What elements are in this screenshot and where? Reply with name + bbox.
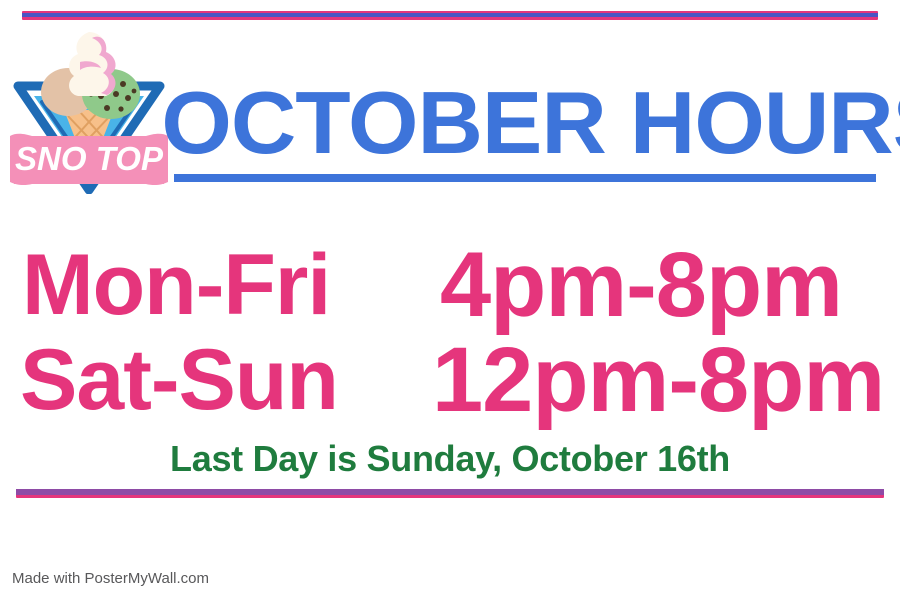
hours-row-time: 4pm-8pm — [440, 238, 842, 333]
last-day-note: Last Day is Sunday, October 16th — [0, 437, 900, 481]
hours-list: Mon-Fri 4pm-8pm Sat-Sun 12pm-8pm — [0, 238, 900, 428]
top-divider-inner-stripe — [22, 13, 878, 17]
bottom-divider-inner-stripe — [16, 489, 884, 495]
page-title-underline — [174, 174, 876, 182]
logo-ribbon-text: SNO TOP — [15, 140, 164, 177]
hours-row: Sat-Sun 12pm-8pm — [0, 333, 900, 428]
hours-row-days: Mon-Fri — [22, 238, 330, 333]
bottom-divider — [16, 489, 884, 498]
page-title: OCTOBER HOURS — [161, 79, 888, 167]
hours-row-days: Sat-Sun — [20, 333, 338, 428]
logo-soft-serve-swirl — [69, 32, 116, 96]
postermywall-watermark: Made with PosterMyWall.com — [12, 570, 209, 588]
hours-row: Mon-Fri 4pm-8pm — [0, 238, 900, 333]
hours-row-time: 12pm-8pm — [432, 333, 884, 428]
poster-canvas: SNO TOP OCTOBER HOURS Mon-Fri 4pm-8pm Sa… — [0, 0, 900, 600]
sno-top-logo: SNO TOP — [6, 24, 172, 194]
top-divider — [22, 11, 878, 20]
